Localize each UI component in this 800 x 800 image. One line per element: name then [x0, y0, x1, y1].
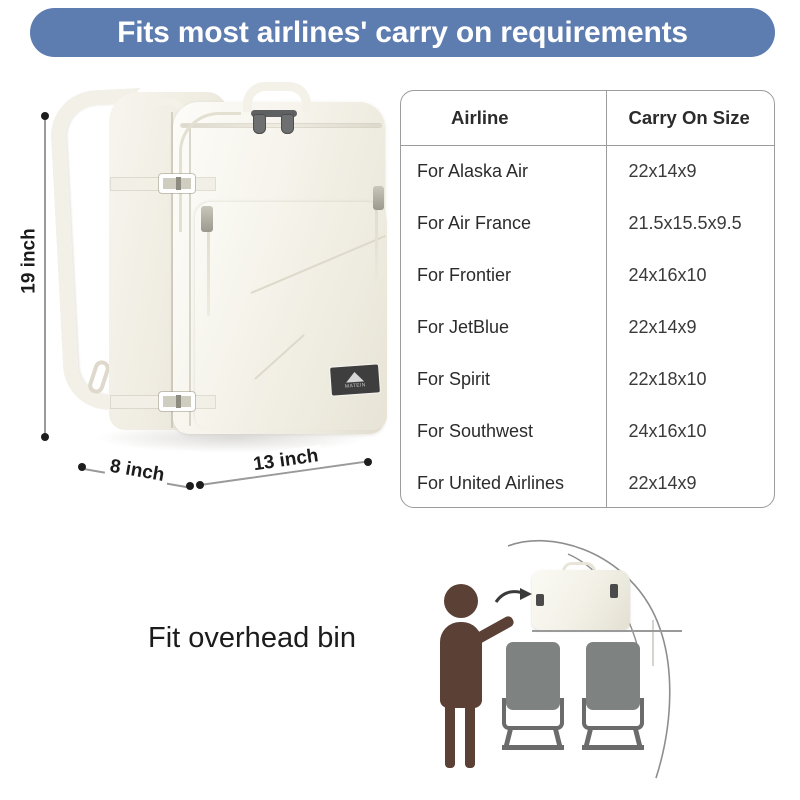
cell-size: 22x14x9: [606, 145, 775, 197]
dimension-line-vertical: [44, 115, 46, 437]
overhead-bin-shelf: [532, 630, 682, 632]
dimension-endpoint-dot: [41, 112, 49, 120]
overhead-bin-scene: [420, 528, 680, 790]
depth-dimension-label: 8 inch: [104, 455, 170, 488]
table-row: For Alaska Air 22x14x9: [401, 145, 775, 197]
table-header-size: Carry On Size: [606, 91, 775, 145]
person-head: [444, 584, 478, 618]
banner-title: Fits most airlines' carry on requirement…: [117, 16, 688, 50]
dimension-endpoint-dot: [41, 433, 49, 441]
cell-airline: For JetBlue: [401, 301, 606, 353]
cell-size: 21.5x15.5x9.5: [606, 197, 775, 249]
table-row: For Spirit 22x18x10: [401, 353, 775, 405]
table-row: For Southwest 24x16x10: [401, 405, 775, 457]
arrow-icon: [494, 586, 534, 608]
seat-legs: [502, 734, 564, 750]
backpack-illustration: MATEIN: [55, 78, 395, 458]
dimension-endpoint-dot: [186, 482, 194, 490]
cell-airline: For Frontier: [401, 249, 606, 301]
zipper-pull-icon: [373, 186, 384, 210]
height-dimension-label: 19 inch: [19, 224, 41, 297]
cell-size: 22x14x9: [606, 457, 775, 508]
table-row: For Frontier 24x16x10: [401, 249, 775, 301]
cell-airline: For Air France: [401, 197, 606, 249]
table-header-row: Airline Carry On Size: [401, 91, 775, 145]
backpack-seam: [171, 112, 173, 428]
cell-size: 22x18x10: [606, 353, 775, 405]
brand-logo-label: MATEIN: [345, 382, 366, 389]
cell-airline: For Spirit: [401, 353, 606, 405]
person-leg: [445, 704, 455, 768]
zipper-pull-icon: [253, 114, 266, 134]
zipper-pull-icon: [281, 114, 294, 134]
overhead-bin-caption: Fit overhead bin: [148, 622, 356, 655]
mountain-icon: [345, 371, 364, 382]
cell-size: 24x16x10: [606, 405, 775, 457]
cell-size: 22x14x9: [606, 301, 775, 353]
zipper-pull-icon: [201, 206, 213, 232]
table-row: For JetBlue 22x14x9: [401, 301, 775, 353]
dimension-endpoint-dot: [78, 463, 86, 471]
backpack-top-handle: [243, 82, 311, 112]
table-header-airline: Airline: [401, 91, 606, 145]
airline-size-table: Airline Carry On Size For Alaska Air 22x…: [400, 90, 775, 508]
table-row: For Air France 21.5x15.5x9.5: [401, 197, 775, 249]
buckle-icon: [159, 392, 195, 411]
cell-airline: For Alaska Air: [401, 145, 606, 197]
cell-size: 24x16x10: [606, 249, 775, 301]
bin-bag-strap-tab: [610, 584, 618, 598]
header-banner: Fits most airlines' carry on requirement…: [30, 8, 775, 57]
seat-frame: [502, 698, 564, 730]
bin-bag: [532, 570, 630, 630]
bin-bag-strap-tab: [536, 594, 544, 606]
buckle-icon: [159, 174, 195, 193]
table-row: For United Airlines 22x14x9: [401, 457, 775, 508]
bin-bag-seam: [652, 620, 654, 666]
dimension-endpoint-dot: [196, 481, 204, 489]
seat-legs: [582, 734, 644, 750]
backpack-front-pocket: [195, 202, 387, 430]
cell-airline: For Southwest: [401, 405, 606, 457]
product-infographic: Fits most airlines' carry on requirement…: [0, 0, 800, 800]
cell-airline: For United Airlines: [401, 457, 606, 508]
brand-logo-patch: MATEIN: [330, 364, 380, 395]
person-leg: [465, 704, 475, 768]
dimension-endpoint-dot: [364, 458, 372, 466]
seat-frame: [582, 698, 644, 730]
